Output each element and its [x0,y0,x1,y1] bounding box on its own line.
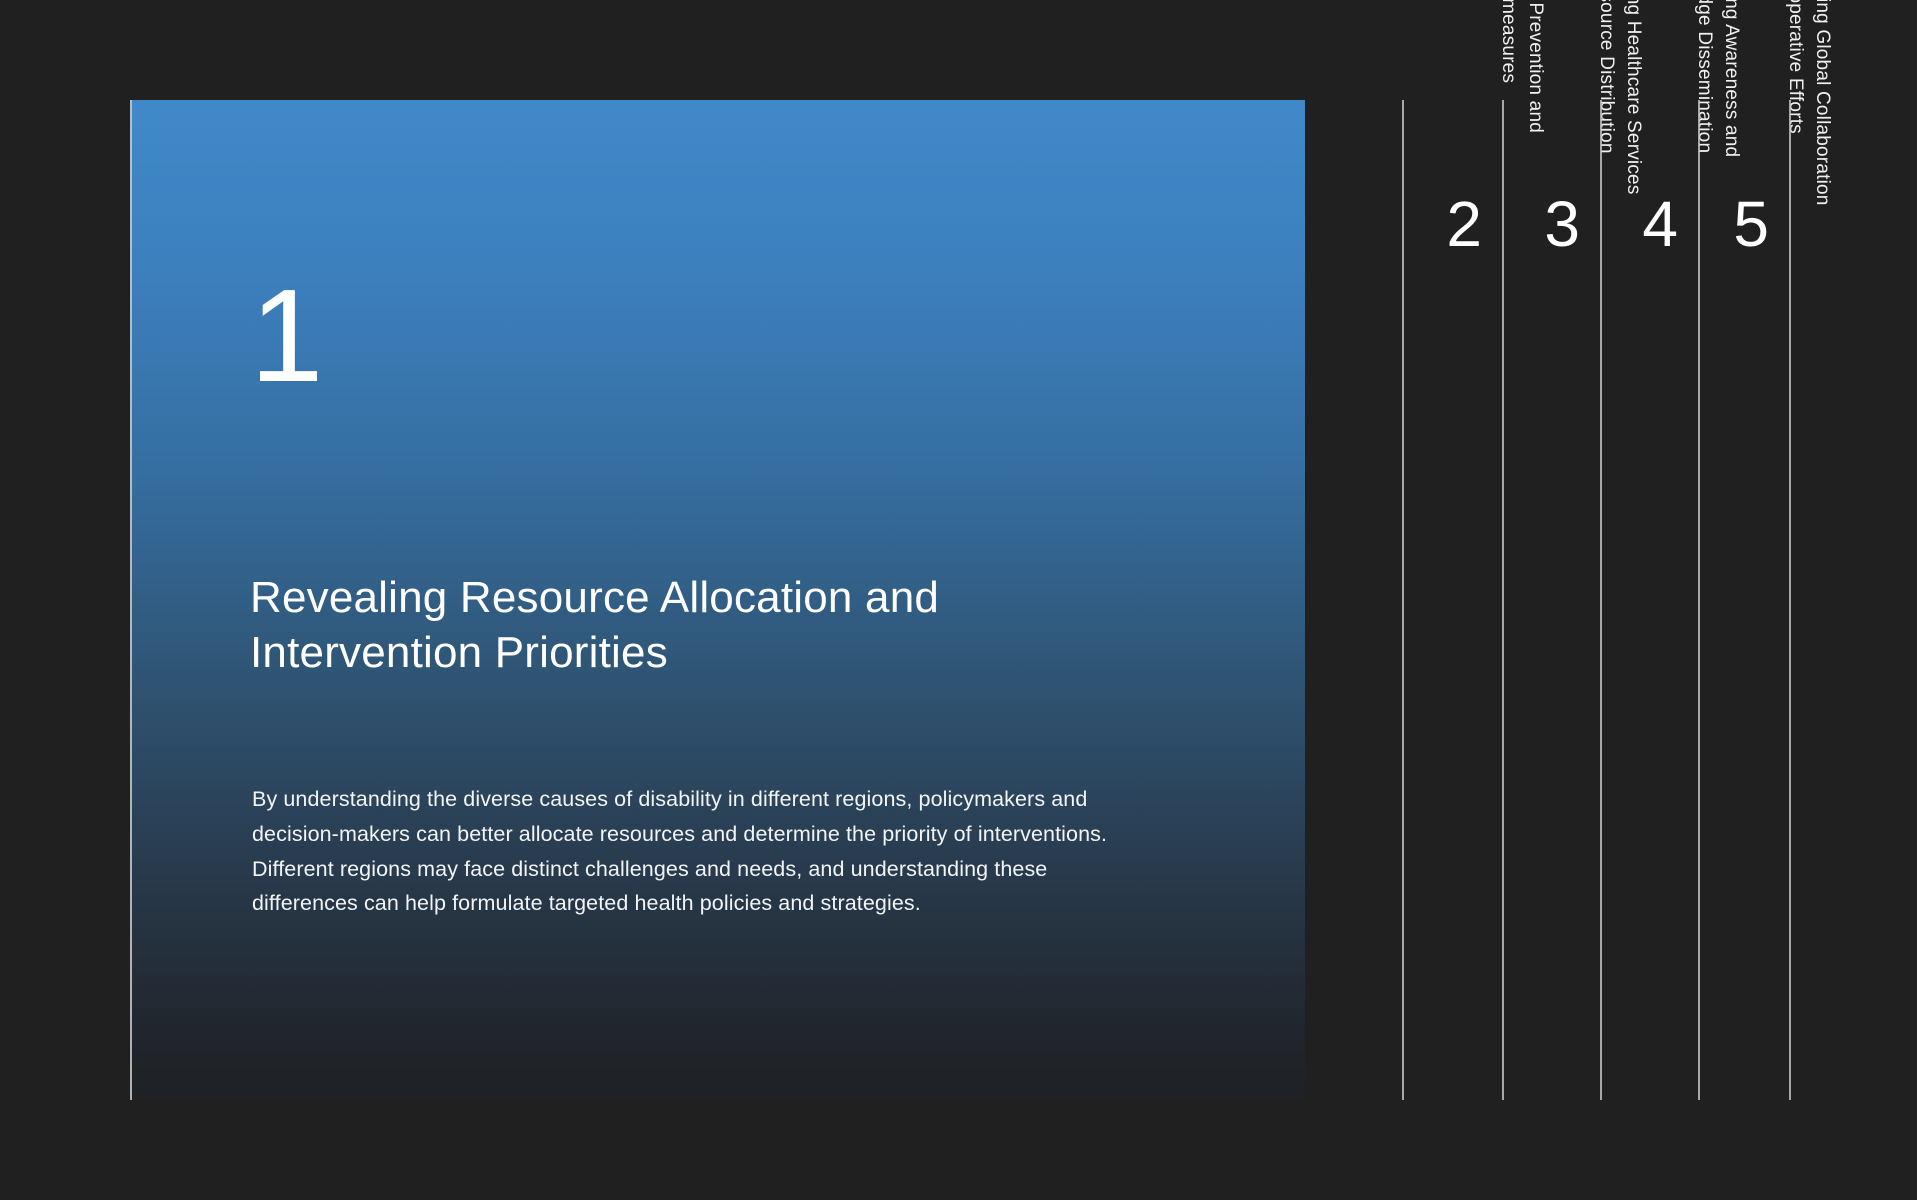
active-panel[interactable]: 1 Revealing Resource Allocation and Inte… [130,100,1305,1100]
panel-divider-rule [1789,100,1791,1100]
collapsed-panel-number: 3 [1544,192,1580,256]
collapsed-panel-4[interactable]: 4 Increasing Awareness and Knowledge Dis… [1600,100,1698,1100]
active-panel-left-rule [130,100,132,1100]
slide-canvas: 1 Revealing Resource Allocation and Inte… [0,0,1917,1200]
active-panel-body-text: By understanding the diverse causes of d… [252,782,1132,921]
collapsed-panel-3[interactable]: 3 Improving Healthcare Services and Reso… [1502,100,1600,1100]
panel-divider-rule [1402,100,1404,1100]
active-panel-title: Revealing Resource Allocation and Interv… [250,570,1090,680]
panel-divider-rule [1600,100,1602,1100]
collapsed-panel-5[interactable]: 5 Supporting Global Collaboration and Co… [1698,100,1789,1100]
panel-divider-rule [1502,100,1504,1100]
active-panel-number: 1 [250,270,322,402]
collapsed-panel-number: 5 [1733,192,1769,256]
collapsed-panel-2[interactable]: 2 Guiding Prevention and Control measure… [1402,100,1502,1100]
trailing-divider-rule [1789,100,1791,1100]
collapsed-panel-number: 4 [1642,192,1678,256]
collapsed-panel-number: 2 [1446,192,1482,256]
panel-divider-rule [1698,100,1700,1100]
